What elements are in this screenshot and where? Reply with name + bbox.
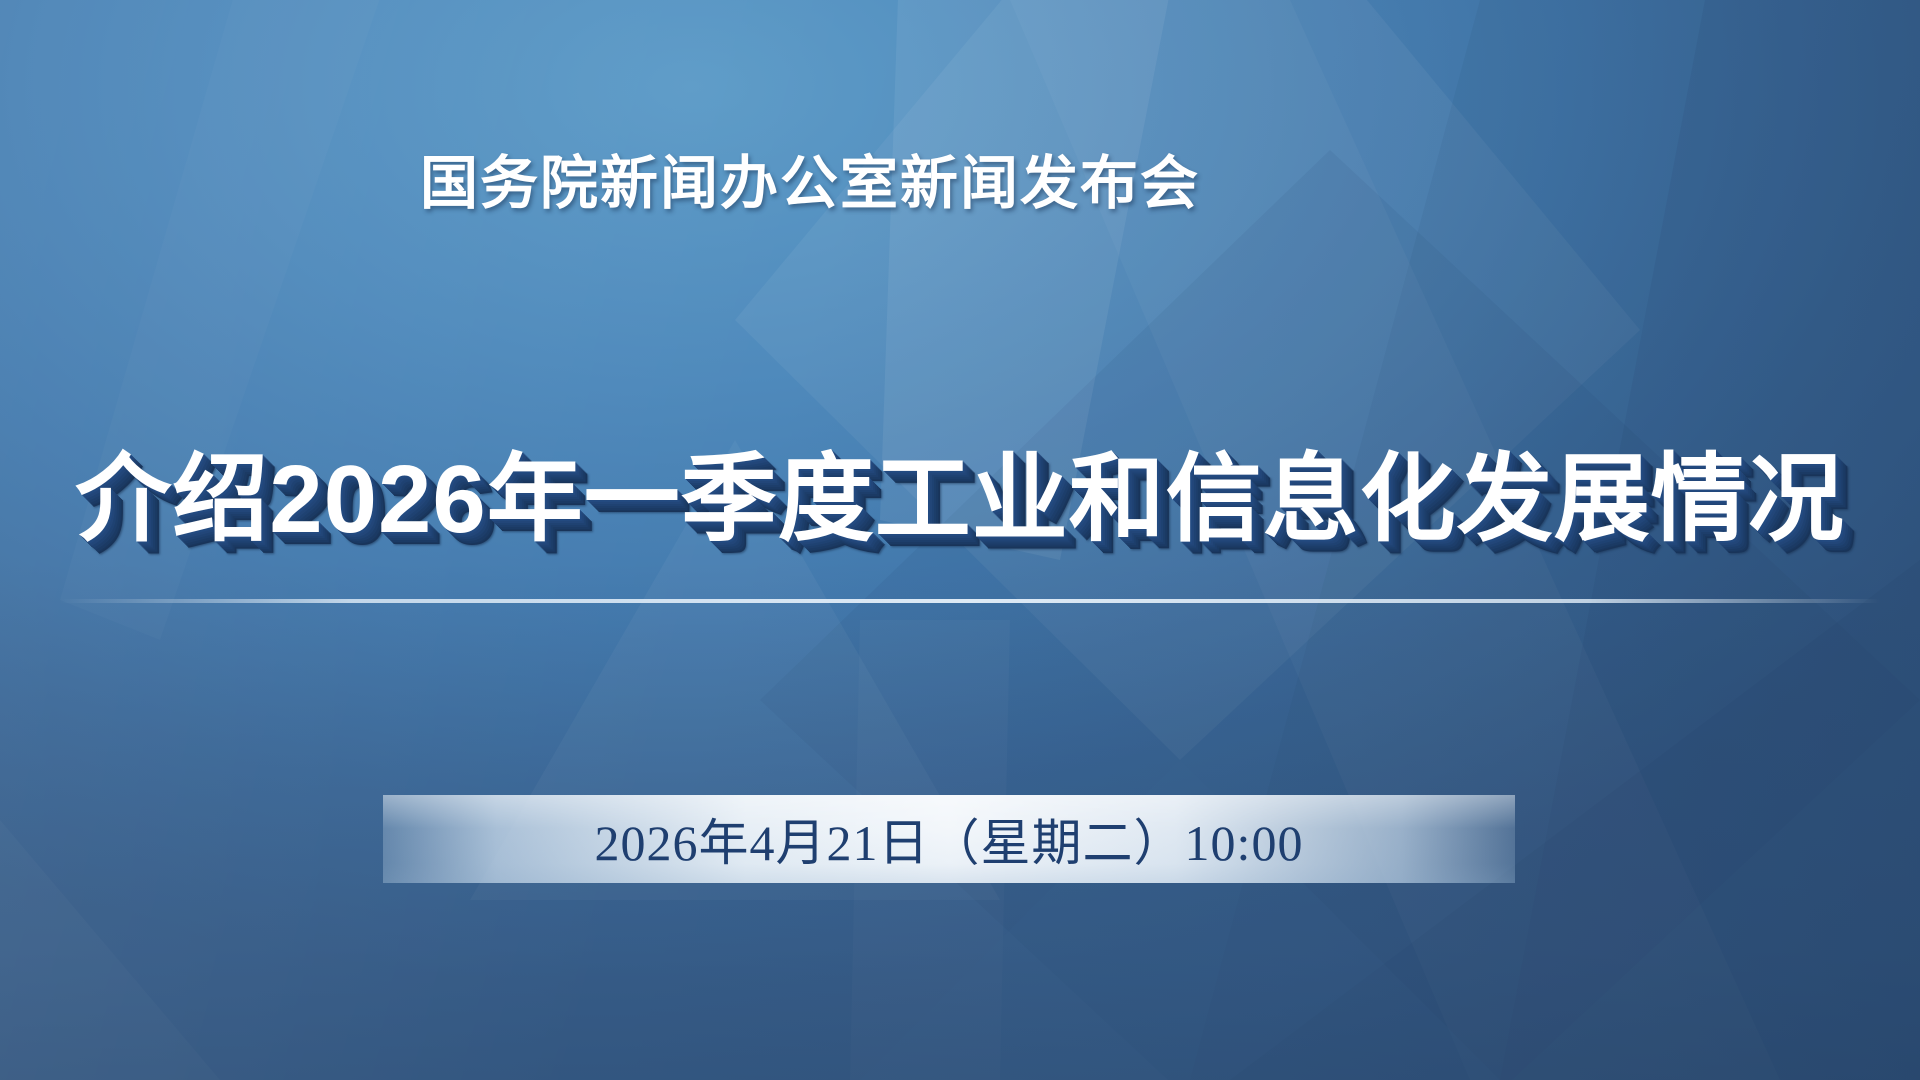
page-title: 介绍2026年一季度工业和信息化发展情况 [75,452,1845,548]
datetime-label: 2026年4月21日（星期二）10:00 [595,803,1304,875]
horizontal-divider-line [60,599,1880,603]
organization-header-title: 国务院新闻办公室新闻发布会 [0,136,1620,220]
datetime-band: 2026年4月21日（星期二）10:00 [383,795,1515,883]
presentation-slide: 国务院新闻办公室新闻发布会 介绍2026年一季度工业和信息化发展情况 2026年… [0,0,1920,1080]
main-title-container: 介绍2026年一季度工业和信息化发展情况 [0,452,1920,548]
